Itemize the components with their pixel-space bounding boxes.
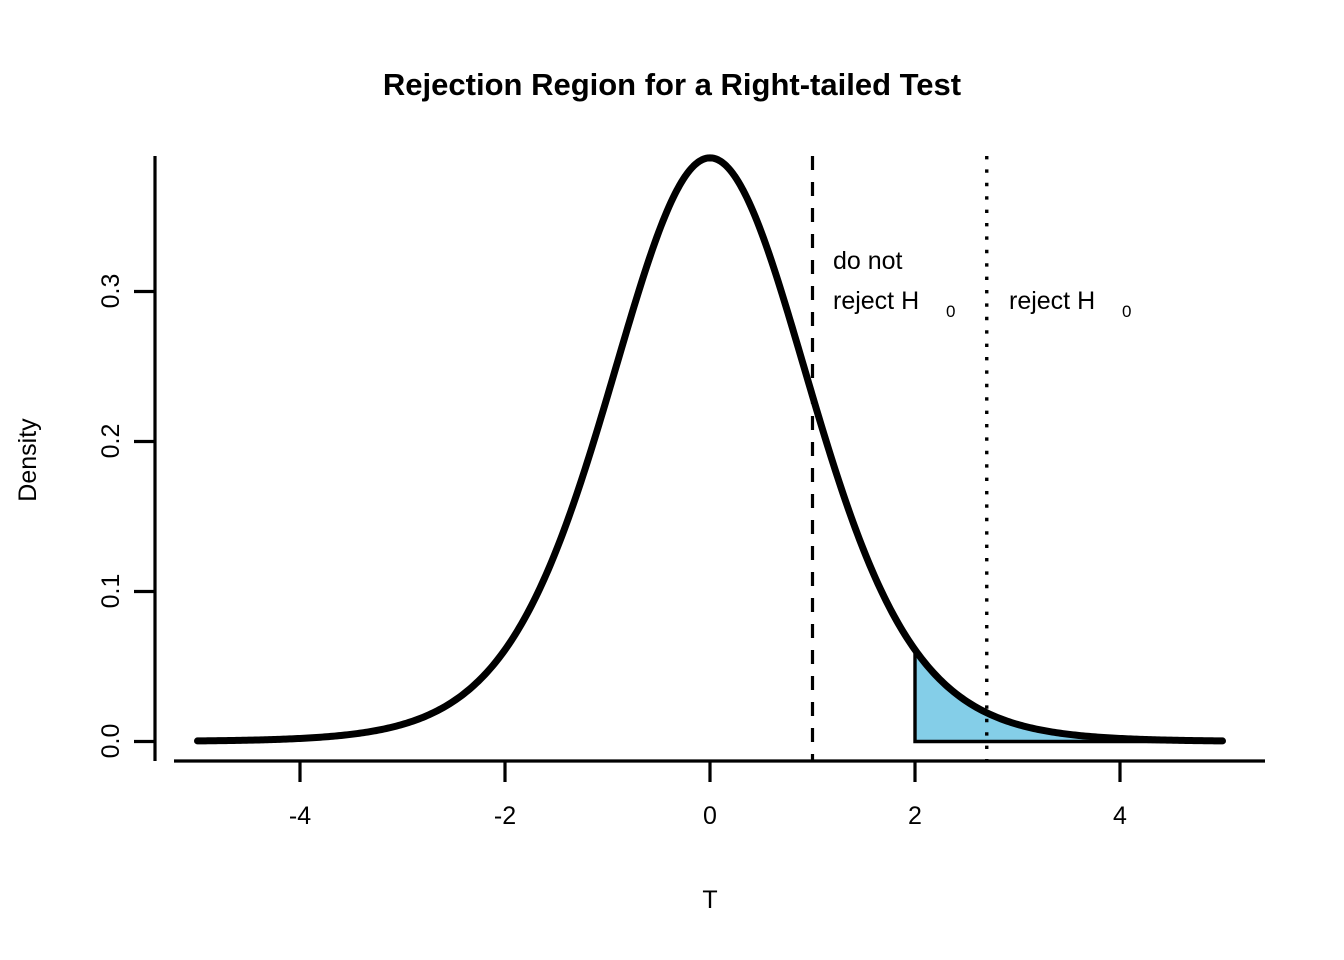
do-not-reject-line2: reject H bbox=[833, 287, 919, 315]
y-tick-label-0: 0.0 bbox=[97, 724, 125, 759]
do-not-reject-subscript: 0 bbox=[946, 302, 955, 321]
chart-page: Rejection Region for a Right-tailed Test… bbox=[0, 0, 1344, 960]
x-tick-label-neg2: -2 bbox=[494, 802, 516, 830]
x-axis-title: T bbox=[702, 886, 717, 914]
y-axis-title: Density bbox=[14, 418, 42, 502]
x-tick-label-4: 4 bbox=[1113, 802, 1127, 830]
y-tick-label-1: 0.1 bbox=[97, 574, 125, 609]
chart-background bbox=[0, 0, 1344, 960]
reject-subscript: 0 bbox=[1122, 302, 1131, 321]
chart-title: Rejection Region for a Right-tailed Test bbox=[383, 67, 961, 102]
x-tick-label-2: 2 bbox=[908, 802, 922, 830]
y-tick-label-3: 0.3 bbox=[97, 274, 125, 309]
x-tick-label-neg4: -4 bbox=[289, 802, 311, 830]
y-tick-label-2: 0.2 bbox=[97, 424, 125, 459]
rejection-region-chart: Rejection Region for a Right-tailed Test… bbox=[0, 0, 1344, 960]
reject-line1: reject H bbox=[1009, 287, 1095, 315]
x-tick-label-0: 0 bbox=[703, 802, 717, 830]
do-not-reject-line1: do not bbox=[833, 247, 903, 275]
